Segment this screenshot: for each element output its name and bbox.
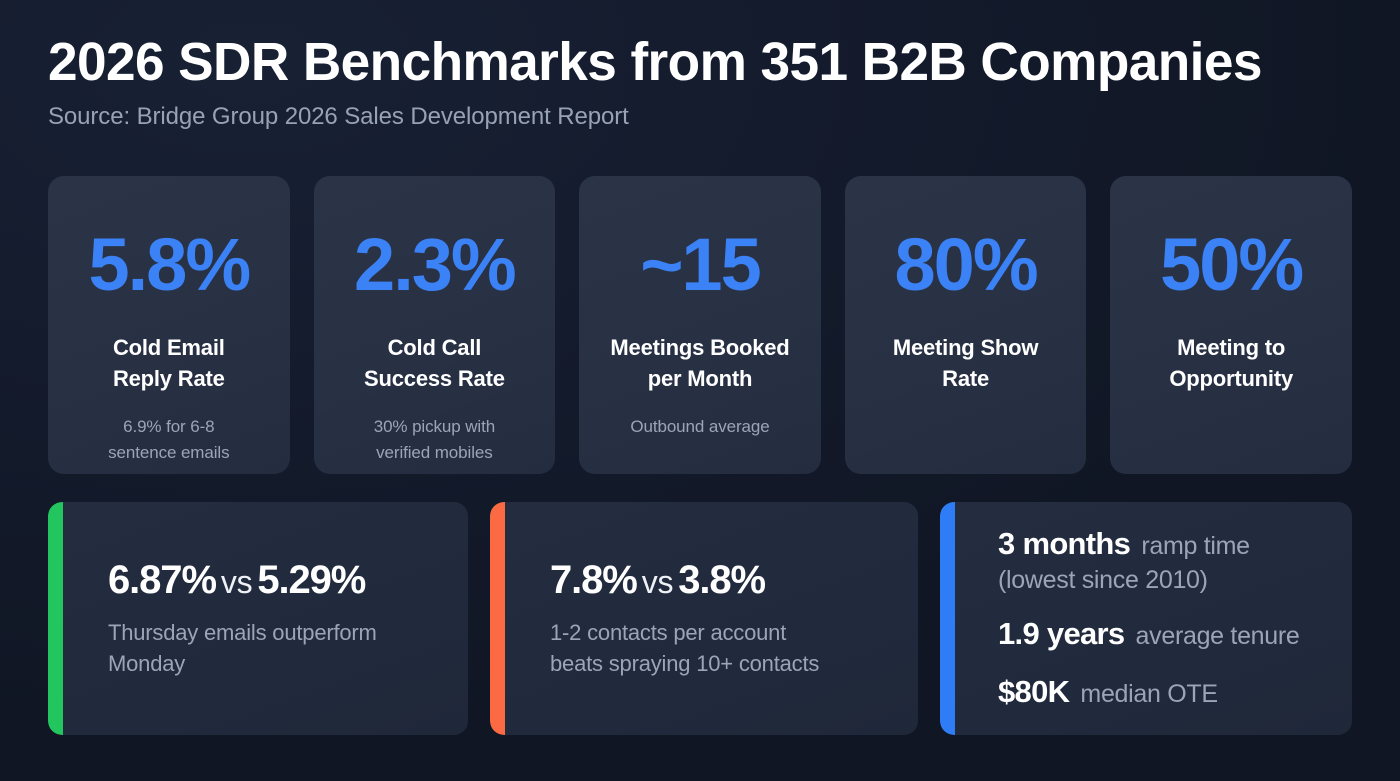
stat-card-meetings-booked-per-month: ~15 Meetings Booked per Month Outbound a…: [579, 176, 821, 474]
stat-label: Meetings Booked per Month: [610, 332, 789, 394]
comparison-vs-label: vs: [637, 564, 678, 600]
comparison-subtext: 1-2 contacts per account beats spraying …: [550, 617, 892, 679]
comparison-subtext-line: Thursday emails outperform: [108, 617, 442, 648]
metric-label: median OTE: [1074, 680, 1218, 708]
stat-card-meeting-to-opportunity: 50% Meeting to Opportunity: [1110, 176, 1352, 474]
comparison-subtext-line: Monday: [108, 648, 442, 679]
comparison-headline: 6.87%vs5.29%: [108, 558, 442, 603]
accent-bar-green: [48, 502, 63, 735]
stat-label-line: Cold Email: [113, 332, 225, 363]
stat-subtext-line: sentence emails: [108, 440, 229, 466]
source-subtitle: Source: Bridge Group 2026 Sales Developm…: [48, 103, 1352, 131]
stat-card-cold-email-reply-rate: 5.8% Cold Email Reply Rate 6.9% for 6-8 …: [48, 176, 290, 474]
stat-label-line: per Month: [610, 363, 789, 394]
metric-value: 3 months: [998, 526, 1130, 561]
metric-row-ramp-time: 3 months ramp time (lowest since 2010): [998, 524, 1330, 596]
stat-subtext: 6.9% for 6-8 sentence emails: [108, 414, 229, 465]
comparison-value-a: 7.8%: [550, 558, 637, 602]
stat-card-row: 5.8% Cold Email Reply Rate 6.9% for 6-8 …: [48, 176, 1352, 474]
stat-label-line: Opportunity: [1169, 363, 1293, 394]
stat-label: Meeting to Opportunity: [1169, 332, 1293, 394]
stat-label: Cold Call Success Rate: [364, 332, 505, 394]
comparison-card-contacts-per-account: 7.8%vs3.8% 1-2 contacts per account beat…: [490, 502, 918, 735]
comparison-card-row: 6.87%vs5.29% Thursday emails outperform …: [48, 502, 1352, 735]
stat-label-line: Meeting Show: [893, 332, 1039, 363]
stat-value: 2.3%: [354, 228, 515, 302]
stat-label: Meeting Show Rate: [893, 332, 1039, 394]
stat-label-line: Meeting to: [1169, 332, 1293, 363]
stat-value: ~15: [640, 228, 760, 302]
metric-label: average tenure: [1129, 622, 1300, 650]
stat-label: Cold Email Reply Rate: [113, 332, 225, 394]
stat-card-cold-call-success-rate: 2.3% Cold Call Success Rate 30% pickup w…: [314, 176, 556, 474]
stat-subtext-line: verified mobiles: [374, 440, 495, 466]
comparison-value-a: 6.87%: [108, 558, 216, 602]
comparison-subtext: Thursday emails outperform Monday: [108, 617, 442, 679]
metric-value: $80K: [998, 674, 1069, 709]
stat-label-line: Reply Rate: [113, 363, 225, 394]
stat-label-line: Cold Call: [364, 332, 505, 363]
page-title: 2026 SDR Benchmarks from 351 B2B Compani…: [48, 34, 1332, 91]
stat-value: 5.8%: [88, 228, 249, 302]
comparison-value-b: 5.29%: [257, 558, 365, 602]
stat-label-line: Rate: [893, 363, 1039, 394]
comparison-vs-label: vs: [216, 564, 257, 600]
comparison-subtext-line: 1-2 contacts per account: [550, 617, 892, 648]
metric-label: ramp time: [1135, 532, 1250, 560]
stat-label-line: Success Rate: [364, 363, 505, 394]
stat-subtext-line: 30% pickup with: [374, 414, 495, 440]
metric-label-text: average tenure: [1136, 622, 1300, 650]
stat-subtext-line: 6.9% for 6-8: [108, 414, 229, 440]
comparison-card-email-day: 6.87%vs5.29% Thursday emails outperform …: [48, 502, 468, 735]
comparison-value-b: 3.8%: [678, 558, 765, 602]
stat-subtext: Outbound average: [630, 414, 769, 440]
metric-row-median-ote: $80K median OTE: [998, 672, 1330, 712]
metric-label-text: median OTE: [1080, 680, 1217, 708]
comparison-headline: 7.8%vs3.8%: [550, 558, 892, 603]
comparison-card-rep-metrics: 3 months ramp time (lowest since 2010) 1…: [940, 502, 1352, 735]
infographic-canvas: 2026 SDR Benchmarks from 351 B2B Compani…: [0, 0, 1400, 781]
metric-label-text: ramp time: [1141, 532, 1249, 560]
comparison-subtext-line: beats spraying 10+ contacts: [550, 648, 892, 679]
stat-value: 50%: [1160, 228, 1302, 302]
accent-bar-blue: [940, 502, 955, 735]
stat-subtext: 30% pickup with verified mobiles: [374, 414, 495, 465]
stat-label-line: Meetings Booked: [610, 332, 789, 363]
stat-card-meeting-show-rate: 80% Meeting Show Rate: [845, 176, 1087, 474]
metric-row-average-tenure: 1.9 years average tenure: [998, 614, 1330, 654]
stat-subtext-line: Outbound average: [630, 414, 769, 440]
metric-value: 1.9 years: [998, 616, 1124, 651]
metric-note: (lowest since 2010): [998, 564, 1330, 597]
header: 2026 SDR Benchmarks from 351 B2B Compani…: [0, 0, 1400, 131]
accent-bar-orange: [490, 502, 505, 735]
stat-value: 80%: [895, 228, 1037, 302]
